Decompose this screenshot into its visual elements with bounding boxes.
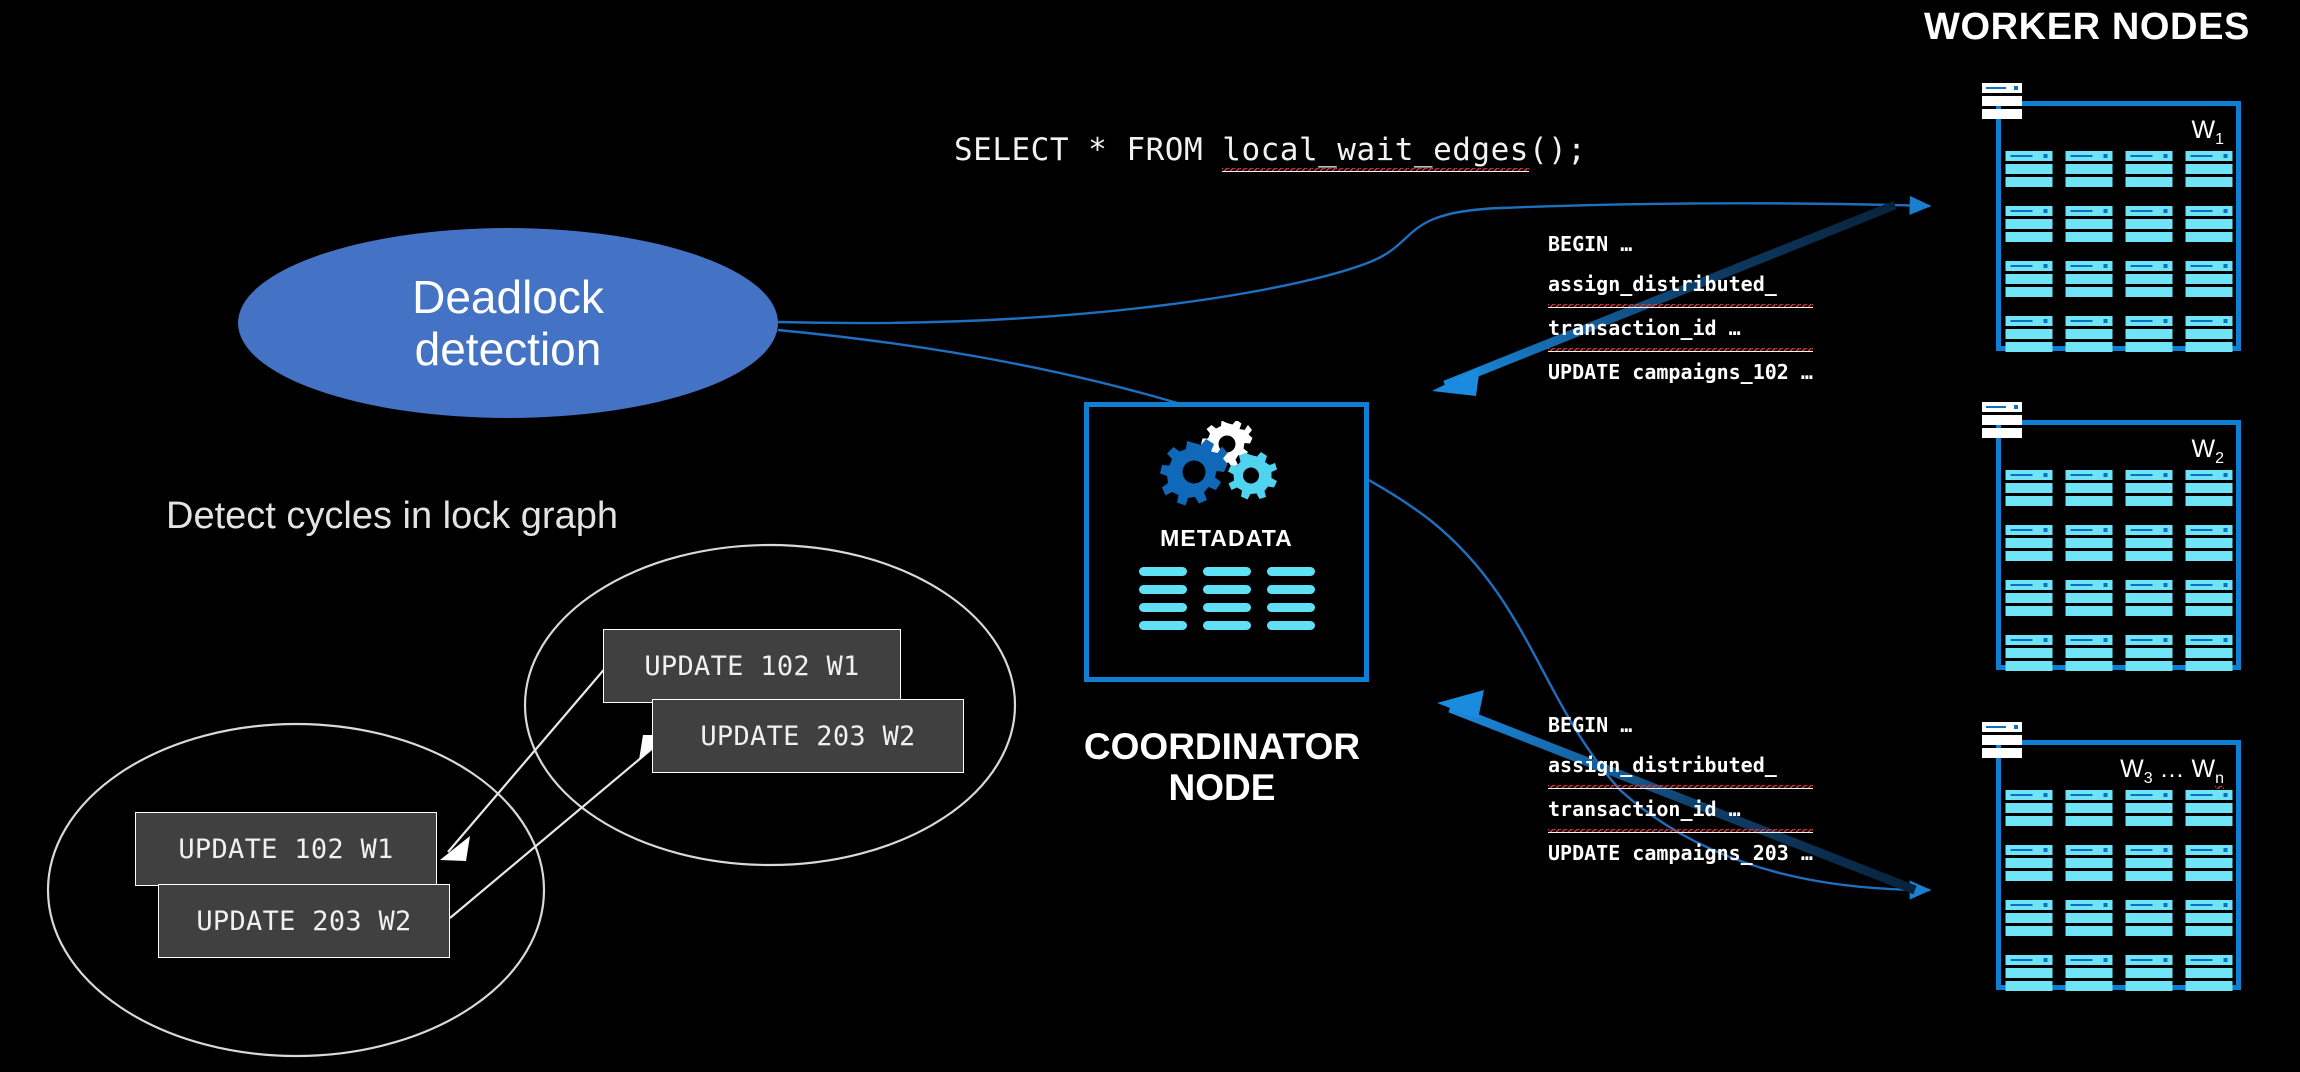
table-shard-icon [2125,845,2172,881]
server-bar [1982,428,2022,438]
worker-nodes-title: WORKER NODES [1924,6,2250,49]
txn-line: transaction_id … [1548,308,1813,352]
table-shard-icon [2185,635,2232,671]
table-shard-icon [2065,900,2112,936]
table-shard-icon [2005,316,2052,352]
table-shard-icon [2185,845,2232,881]
table-shard-icon [2125,900,2172,936]
txn-line: assign_distributed_ [1548,264,1813,308]
worker-node-3: W3 … Wn [1996,740,2241,990]
metadata-bar [1267,603,1315,612]
table-shard-icon [2065,790,2112,826]
transaction-block-102: BEGIN … assign_distributed_ transaction_… [1548,224,1813,392]
table-shard-icon [2005,790,2052,826]
table-shard-icon [2065,316,2112,352]
deadlock-detection-label: Deadlock detection [412,271,604,376]
transaction-block-203: BEGIN … assign_distributed_ transaction_… [1548,705,1813,873]
table-shard-icon [2125,525,2172,561]
worker-label-1: W1 [2191,116,2224,149]
worker-node-2: W2 [1996,420,2241,670]
table-shard-icon [2005,151,2052,187]
server-bar [1982,83,2022,93]
table-shard-icon [2125,790,2172,826]
table-shard-icon [2065,206,2112,242]
arrowhead-worker1-to-coordinator [1432,367,1480,396]
txn-line: assign_distributed_ [1548,745,1813,789]
worker-label-3: W3 … Wn [2120,755,2224,788]
table-shard-icon [2005,261,2052,297]
txn-line: transaction_id … [1548,789,1813,833]
table-shard-icon [2185,151,2232,187]
table-shard-grid [2005,470,2232,671]
txn-line: BEGIN … [1548,224,1813,264]
table-shard-icon [2125,316,2172,352]
table-shard-icon [2125,151,2172,187]
table-shard-grid [2005,790,2232,991]
table-shard-icon [2065,261,2112,297]
lock-graph-box: UPDATE 102 W1 [603,629,901,703]
metadata-bar [1267,585,1315,594]
table-shard-grid [2005,151,2232,352]
table-shard-icon [2125,206,2172,242]
table-shard-icon [2185,955,2232,991]
table-shard-icon [2005,955,2052,991]
table-shard-icon [2185,316,2232,352]
txn-line: UPDATE campaigns_102 … [1548,352,1813,392]
table-shard-icon [2185,261,2232,297]
table-shard-icon [2185,470,2232,506]
txn-line: UPDATE campaigns_203 … [1548,833,1813,873]
table-shard-icon [2065,470,2112,506]
table-shard-icon [2185,525,2232,561]
metadata-bar [1267,567,1315,576]
metadata-bar [1203,585,1251,594]
worker-label-2: W2 [2191,435,2224,468]
server-bar [1982,748,2022,758]
lock-graph-box: UPDATE 102 W1 [135,812,437,886]
metadata-bar-column [1139,567,1187,630]
server-stack-icon [1982,83,2022,122]
metadata-bar [1139,603,1187,612]
table-shard-icon [2005,900,2052,936]
lock-graph-box: UPDATE 203 W2 [652,699,964,773]
table-shard-icon [2065,151,2112,187]
table-shard-icon [2005,635,2052,671]
metadata-bar [1139,621,1187,630]
txn-line: BEGIN … [1548,705,1813,745]
server-bar [1982,735,2022,745]
metadata-bar-column [1267,567,1315,630]
metadata-bar [1203,603,1251,612]
metadata-bar-column [1203,567,1251,630]
server-bar [1982,96,2022,106]
lock-graph-box: UPDATE 203 W2 [158,884,450,958]
table-shard-icon [2125,580,2172,616]
table-shard-icon [2005,525,2052,561]
table-shard-icon [2065,635,2112,671]
metadata-bar [1203,567,1251,576]
query-prefix: SELECT * FROM [954,132,1222,168]
table-shard-icon [2005,845,2052,881]
server-bar [1982,415,2022,425]
table-shard-icon [2065,845,2112,881]
table-shard-icon [2065,525,2112,561]
arrowhead-worker3-to-coordinator [1437,690,1484,719]
table-shard-icon [2125,635,2172,671]
metadata-bar [1267,621,1315,630]
select-query-text: SELECT * FROM local_wait_edges(); [954,132,1586,168]
metadata-label: METADATA [1089,525,1364,552]
table-shard-icon [2005,580,2052,616]
coordinator-node-title: COORDINATOR NODE [1062,726,1382,809]
table-shard-icon [2185,206,2232,242]
server-stack-icon [1982,722,2022,761]
detect-cycles-caption: Detect cycles in lock graph [166,495,618,538]
server-bar [1982,722,2022,732]
table-shard-icon [2185,580,2232,616]
metadata-bar [1139,567,1187,576]
query-function-name: local_wait_edges [1222,132,1529,172]
gears-icon [1089,421,1364,513]
deadlock-detection-ellipse: Deadlock detection [238,228,778,418]
worker-node-1: W1 [1996,101,2241,351]
metadata-bar [1139,585,1187,594]
table-shard-icon [2185,900,2232,936]
server-stack-icon [1982,402,2022,441]
server-bar [1982,109,2022,119]
coordinator-node-box: METADATA [1084,402,1369,682]
table-shard-icon [2125,261,2172,297]
table-shard-icon [2185,790,2232,826]
metadata-bar [1203,621,1251,630]
lock-edge-top-to-bottom [440,645,625,861]
diagram-canvas: WORKER NODES COORDINATOR NODE SELECT * F… [0,0,2300,1072]
server-bar [1982,402,2022,412]
table-shard-icon [2065,955,2112,991]
table-shard-icon [2065,580,2112,616]
table-shard-icon [2005,470,2052,506]
metadata-bars [1089,567,1364,630]
table-shard-icon [2125,955,2172,991]
table-shard-icon [2125,470,2172,506]
query-suffix: (); [1529,132,1587,168]
lock-edge-bottom-to-top [450,735,668,918]
table-shard-icon [2005,206,2052,242]
